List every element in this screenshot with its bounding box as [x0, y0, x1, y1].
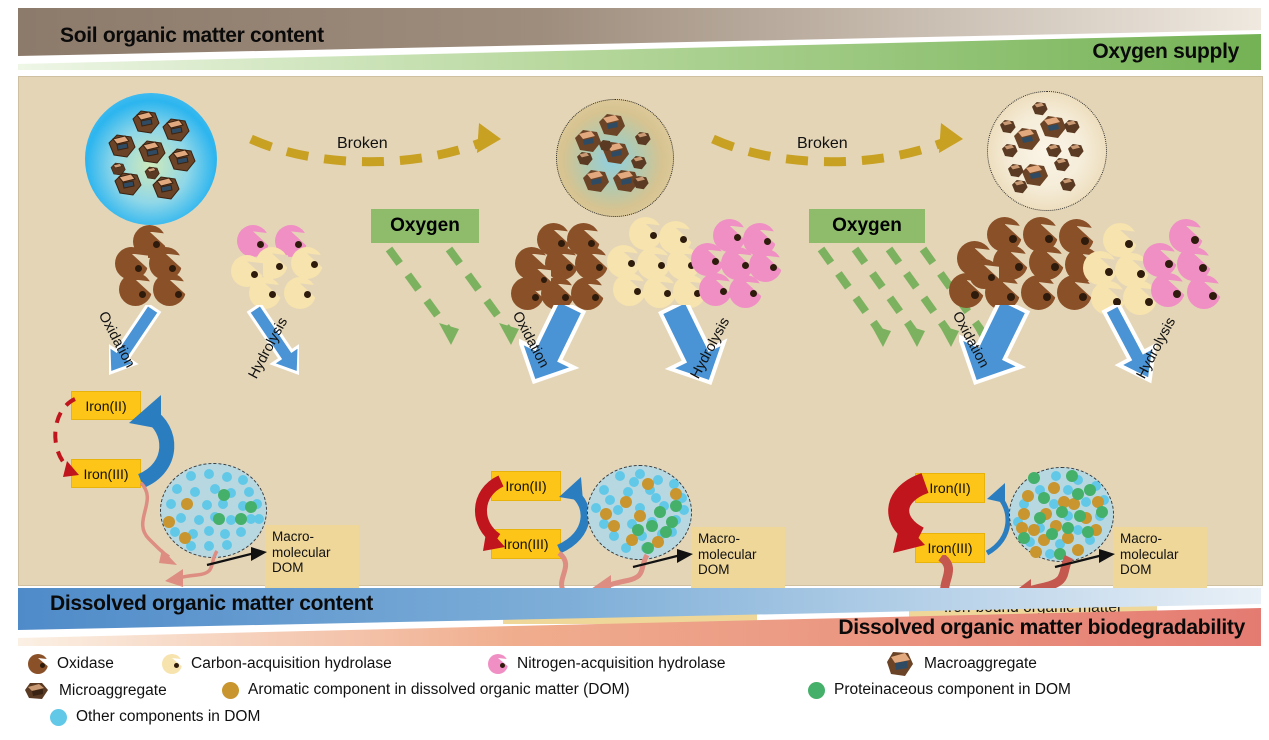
microaggregate-cluster-stage-3 [987, 91, 1107, 211]
legend-item-oxidase: Oxidase [28, 654, 114, 674]
macroaggregate-cluster-stage-1 [85, 93, 217, 225]
carbon-hydrolase-icon [613, 273, 646, 306]
macromolecular-dom-line-1: Macro- [272, 529, 352, 545]
proteinaceous-dot-icon [808, 682, 825, 699]
legend-item-carbon-hydrolase: Carbon-acquisition hydrolase [162, 654, 392, 674]
macromolecular-dom-box-stage-2: Macro- molecular DOM [691, 527, 785, 591]
carbon-hydrolase-icon [629, 217, 662, 250]
macromolecular-dom-line-3: DOM [698, 562, 778, 578]
dissolved-organic-matter-content-label: Dissolved organic matter content [50, 592, 373, 616]
nitrogen-hydrolase-group-stage-3 [1143, 219, 1233, 315]
dom-to-macromolecular-arrow-stage-3 [1053, 549, 1119, 573]
hydrolase-group-stage-1 [231, 225, 341, 310]
macromolecular-dom-line-3: DOM [272, 560, 352, 576]
other-dom-dot-icon [50, 709, 67, 726]
legend-item-microaggregate: Microaggregate [24, 681, 167, 701]
oxygen-box-2: Oxygen [809, 209, 925, 243]
oxidase-icon [523, 263, 551, 291]
legend: Oxidase Carbon-acquisition hydrolase Nit… [10, 650, 1269, 736]
aromatic-dot-icon [222, 682, 239, 699]
mixed-aggregate-cluster-stage-2 [556, 99, 674, 217]
oxygen-supply-label: Oxygen supply [1092, 40, 1239, 64]
iron-reduction-arrow-stage-3 [867, 469, 937, 569]
nitrogen-hydrolase-icon [1143, 243, 1177, 277]
legend-label: Carbon-acquisition hydrolase [191, 655, 392, 673]
nitrogen-hydrolase-icon [699, 273, 732, 306]
dom-pool-stage-2 [587, 465, 692, 560]
legend-item-aromatic: Aromatic component in dissolved organic … [222, 681, 630, 699]
bottom-banner: Dissolved organic matter content Dissolv… [18, 588, 1261, 646]
oxidase-group-stage-1 [115, 225, 215, 305]
iron-reduction-arrow-stage-2 [459, 469, 515, 569]
dom-to-macromolecular-arrow-stage-1 [205, 547, 271, 571]
oxidase-group-stage-2 [511, 223, 621, 313]
legend-label: Oxidase [57, 655, 114, 673]
main-diagram-panel: Broken [18, 76, 1263, 586]
dom-to-macromolecular-arrow-stage-2 [631, 549, 697, 573]
legend-label: Macroaggregate [924, 655, 1037, 673]
macromolecular-dom-box-stage-3: Macro- molecular DOM [1113, 527, 1207, 591]
microaggregate-icon [24, 681, 50, 701]
nitrogen-hydrolase-group-stage-2 [687, 219, 783, 315]
legend-label: Proteinaceous component in DOM [834, 681, 1071, 699]
oxidase-icon [969, 259, 999, 289]
oxidase-icon [153, 273, 186, 306]
macromolecular-dom-line-1: Macro- [698, 531, 778, 547]
macromolecular-dom-box-stage-1: Macro- molecular DOM [265, 525, 359, 589]
hydrolysis-arrow-stage-1 [209, 305, 299, 395]
dissolved-organic-matter-biodegradability-label: Dissolved organic matter biodegradabilit… [838, 616, 1245, 640]
legend-label: Aromatic component in dissolved organic … [248, 681, 630, 699]
legend-item-macroaggregate: Macroaggregate [885, 650, 1037, 678]
macromolecular-dom-line-2: molecular [698, 547, 778, 563]
oxygen-box-1: Oxygen [371, 209, 479, 243]
legend-item-other-dom: Other components in DOM [50, 708, 260, 726]
legend-label: Microaggregate [59, 682, 167, 700]
legend-item-proteinaceous: Proteinaceous component in DOM [808, 681, 1071, 699]
top-banner: Soil organic matter content Oxygen suppl… [18, 8, 1261, 70]
carbon-hydrolase-icon [291, 247, 323, 279]
carbon-hydrolase-icon [162, 654, 182, 674]
soil-organic-matter-content-label: Soil organic matter content [60, 24, 324, 48]
carbon-hydrolase-icon [1103, 223, 1137, 257]
macromolecular-dom-line-3: DOM [1120, 562, 1200, 578]
legend-label: Nitrogen-acquisition hydrolase [517, 655, 726, 673]
macromolecular-dom-line-1: Macro- [1120, 531, 1200, 547]
nitrogen-hydrolase-icon [1151, 273, 1185, 307]
legend-label: Other components in DOM [76, 708, 260, 726]
oxidase-icon [575, 247, 608, 280]
oxidase-icon [28, 654, 48, 674]
nitrogen-hydrolase-icon [1187, 275, 1221, 309]
nitrogen-hydrolase-icon [488, 654, 508, 674]
carbon-hydrolase-icon [643, 275, 676, 308]
legend-item-nitrogen-hydrolase: Nitrogen-acquisition hydrolase [488, 654, 726, 674]
broken-label-1: Broken [337, 135, 388, 153]
oxygen-arrows-1 [375, 245, 525, 350]
oxidase-icon [119, 273, 152, 306]
dom-pool-stage-3 [1009, 467, 1114, 562]
macromolecular-dom-line-2: molecular [272, 545, 352, 561]
macroaggregate-particles [85, 93, 217, 225]
carbon-hydrolase-icon [1083, 251, 1117, 285]
nitrogen-hydrolase-icon [691, 243, 724, 276]
macroaggregate-icon [885, 650, 915, 678]
iron-reduction-arrow-stage-1 [41, 389, 89, 489]
broken-label-2: Broken [797, 135, 848, 153]
macromolecular-dom-line-2: molecular [1120, 547, 1200, 563]
nitrogen-hydrolase-icon [729, 275, 762, 308]
